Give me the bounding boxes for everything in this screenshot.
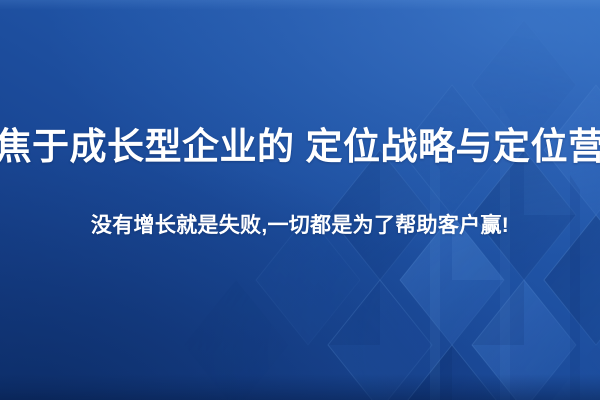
banner-headline: 聚焦于成长型企业的定位战略与定位营销 <box>0 126 600 167</box>
promo-banner: 聚焦于成长型企业的定位战略与定位营销 没有增长就是失败,一切都是为了帮助客户赢! <box>0 0 600 400</box>
banner-text-block: 聚焦于成长型企业的定位战略与定位营销 没有增长就是失败,一切都是为了帮助客户赢! <box>0 0 600 400</box>
headline-segment-2: 定位战略与定位营销 <box>306 126 600 167</box>
headline-segment-1: 聚焦于成长型企业的 <box>0 126 295 167</box>
banner-subheadline: 没有增长就是失败,一切都是为了帮助客户赢! <box>91 213 509 238</box>
